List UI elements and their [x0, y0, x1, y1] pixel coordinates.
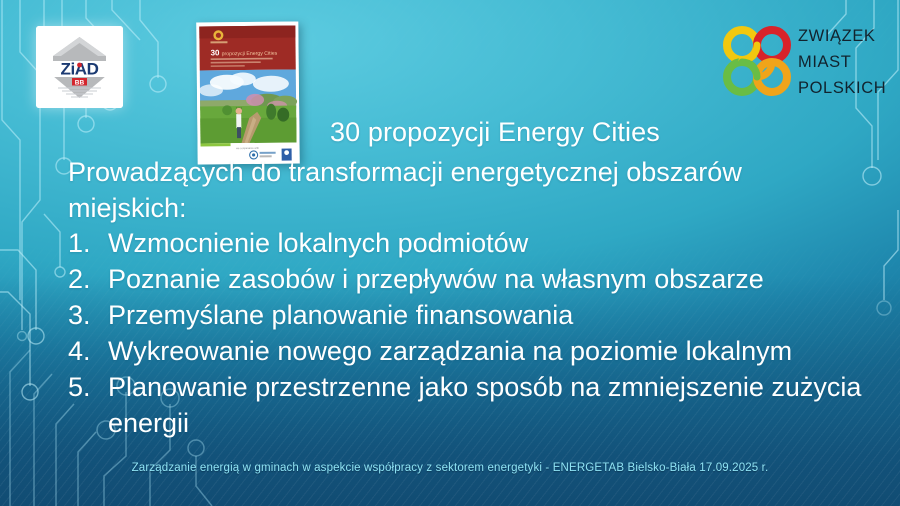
- slide-title: 30 propozycji Energy Cities: [330, 114, 660, 150]
- svg-text:30: 30: [211, 48, 221, 57]
- presentation-slide: ZiAD BB 30 propozycji Energy Cities: [0, 0, 900, 506]
- svg-text:we cooperation with: we cooperation with: [236, 146, 260, 150]
- ziad-logo-mark: ZiAD BB: [36, 26, 123, 108]
- zmp-logo-mark: [718, 21, 796, 103]
- list-item: Poznanie zasobów i przepływów na własnym…: [108, 262, 898, 298]
- list-item: Wzmocnienie lokalnych podmiotów: [108, 226, 898, 262]
- proposal-list: Wzmocnienie lokalnych podmiotów Poznanie…: [68, 226, 898, 442]
- svg-text:ZiAD: ZiAD: [60, 60, 98, 79]
- zmp-logo-text: ZWIĄZEK MIAST POLSKICH: [798, 23, 888, 101]
- zmp-logo: ZWIĄZEK MIAST POLSKICH: [718, 17, 886, 109]
- zmp-line-1: ZWIĄZEK: [798, 23, 888, 49]
- brochure-cover-artwork: 30 propozycji Energy Cities: [196, 21, 299, 164]
- list-item: Wykreowanie nowego zarządzania na poziom…: [108, 334, 898, 370]
- zmp-line-3: POLSKICH: [798, 75, 888, 101]
- svg-text:propozycji Energy Cities: propozycji Energy Cities: [222, 51, 278, 58]
- list-item: Przemyślane planowanie finansowania: [108, 298, 898, 334]
- list-item: Planowanie przestrzenne jako sposób na z…: [108, 370, 898, 441]
- brochure-cover-image: 30 propozycji Energy Cities: [196, 21, 299, 164]
- slide-footer: Zarządzanie energią w gminach w aspekcie…: [0, 462, 900, 474]
- svg-text:BB: BB: [75, 80, 85, 87]
- slide-lead-text: Prowadzących do transformacji energetycz…: [68, 154, 828, 226]
- ziad-logo: ZiAD BB: [36, 26, 123, 108]
- zmp-line-2: MIAST: [798, 49, 888, 75]
